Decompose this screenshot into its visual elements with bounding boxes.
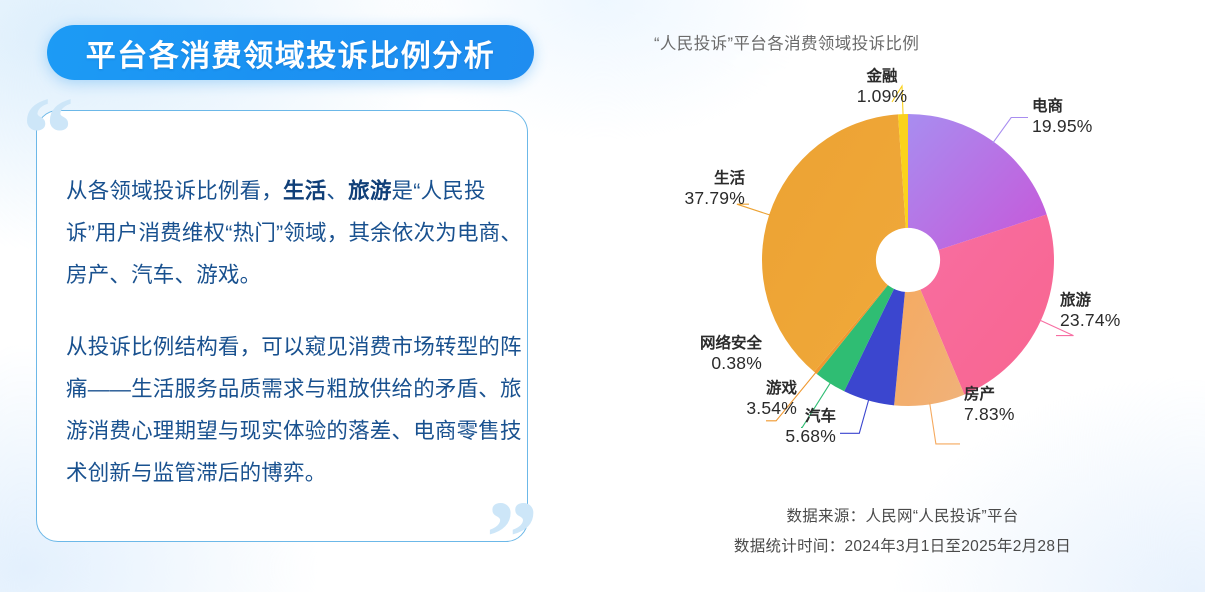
left-commentary-panel: 平台各消费领域投诉比例分析 “ ” 从各领域投诉比例看，生活、旅游是“人民投诉”… <box>0 0 600 592</box>
pie-label-value-网络安全: 0.38% <box>700 353 762 374</box>
leader-line-房产 <box>930 402 960 444</box>
leader-line-电商 <box>993 118 1029 144</box>
page-title: 平台各消费领域投诉比例分析 <box>86 31 496 75</box>
pie-label-value-汽车: 5.68% <box>785 426 836 447</box>
pie-label-name-游戏: 游戏 <box>746 380 797 398</box>
leader-line-汽车 <box>840 399 869 434</box>
pie-label-房产: 房产7.83% <box>964 386 1015 425</box>
pie-label-value-生活: 37.79% <box>684 188 745 209</box>
pie-label-name-生活: 生活 <box>684 170 745 188</box>
chart-panel: “人民投诉”平台各消费领域投诉比例 电商19.95%旅游23.74%房产7.83… <box>600 0 1205 592</box>
pie-label-value-金融: 1.09% <box>836 86 928 107</box>
pie-label-name-旅游: 旅游 <box>1060 292 1121 310</box>
pie-label-value-游戏: 3.54% <box>746 398 797 419</box>
pie-label-游戏: 游戏3.54% <box>746 380 797 419</box>
page-title-badge: 平台各消费领域投诉比例分析 <box>47 25 534 80</box>
highlight-travel: 旅游 <box>348 179 391 203</box>
pie-label-value-电商: 19.95% <box>1032 116 1093 137</box>
data-period-line: 数据统计时间：2024年3月1日至2025年2月28日 <box>600 532 1205 562</box>
pie-label-value-房产: 7.83% <box>964 404 1015 425</box>
commentary-paragraph-2: 从投诉比例结构看，可以窥见消费市场转型的阵痛——生活服务品质需求与粗放供给的矛盾… <box>66 326 536 494</box>
commentary-text: 从各领域投诉比例看，生活、旅游是“人民投诉”用户消费维权“热门”领域，其余依次为… <box>66 170 536 494</box>
pie-label-name-电商: 电商 <box>1032 98 1093 116</box>
commentary-paragraph-1: 从各领域投诉比例看，生活、旅游是“人民投诉”用户消费维权“热门”领域，其余依次为… <box>66 170 536 296</box>
pie-label-旅游: 旅游23.74% <box>1060 292 1121 331</box>
data-source-line: 数据来源：人民网“人民投诉”平台 <box>600 502 1205 532</box>
pie-label-生活: 生活37.79% <box>684 170 745 209</box>
quote-close-icon: ” <box>486 486 538 590</box>
pie-label-网络安全: 网络安全0.38% <box>700 335 762 374</box>
pie-chart: 电商19.95%旅游23.74%房产7.83%汽车5.68%游戏3.54%网络安… <box>600 0 1205 500</box>
donut-hole <box>876 228 940 292</box>
highlight-life: 生活 <box>283 179 326 203</box>
paragraph-1-lead: 从各领域投诉比例看， <box>66 179 283 203</box>
pie-label-name-房产: 房产 <box>964 386 1015 404</box>
pie-label-name-金融: 金融 <box>836 68 928 86</box>
pie-label-金融: 金融1.09% <box>836 68 928 107</box>
pie-label-value-旅游: 23.74% <box>1060 310 1121 331</box>
chart-footer: 数据来源：人民网“人民投诉”平台 数据统计时间：2024年3月1日至2025年2… <box>600 502 1205 562</box>
pie-label-name-网络安全: 网络安全 <box>700 335 762 353</box>
paragraph-1-separator: 、 <box>326 179 348 203</box>
pie-label-电商: 电商19.95% <box>1032 98 1093 137</box>
